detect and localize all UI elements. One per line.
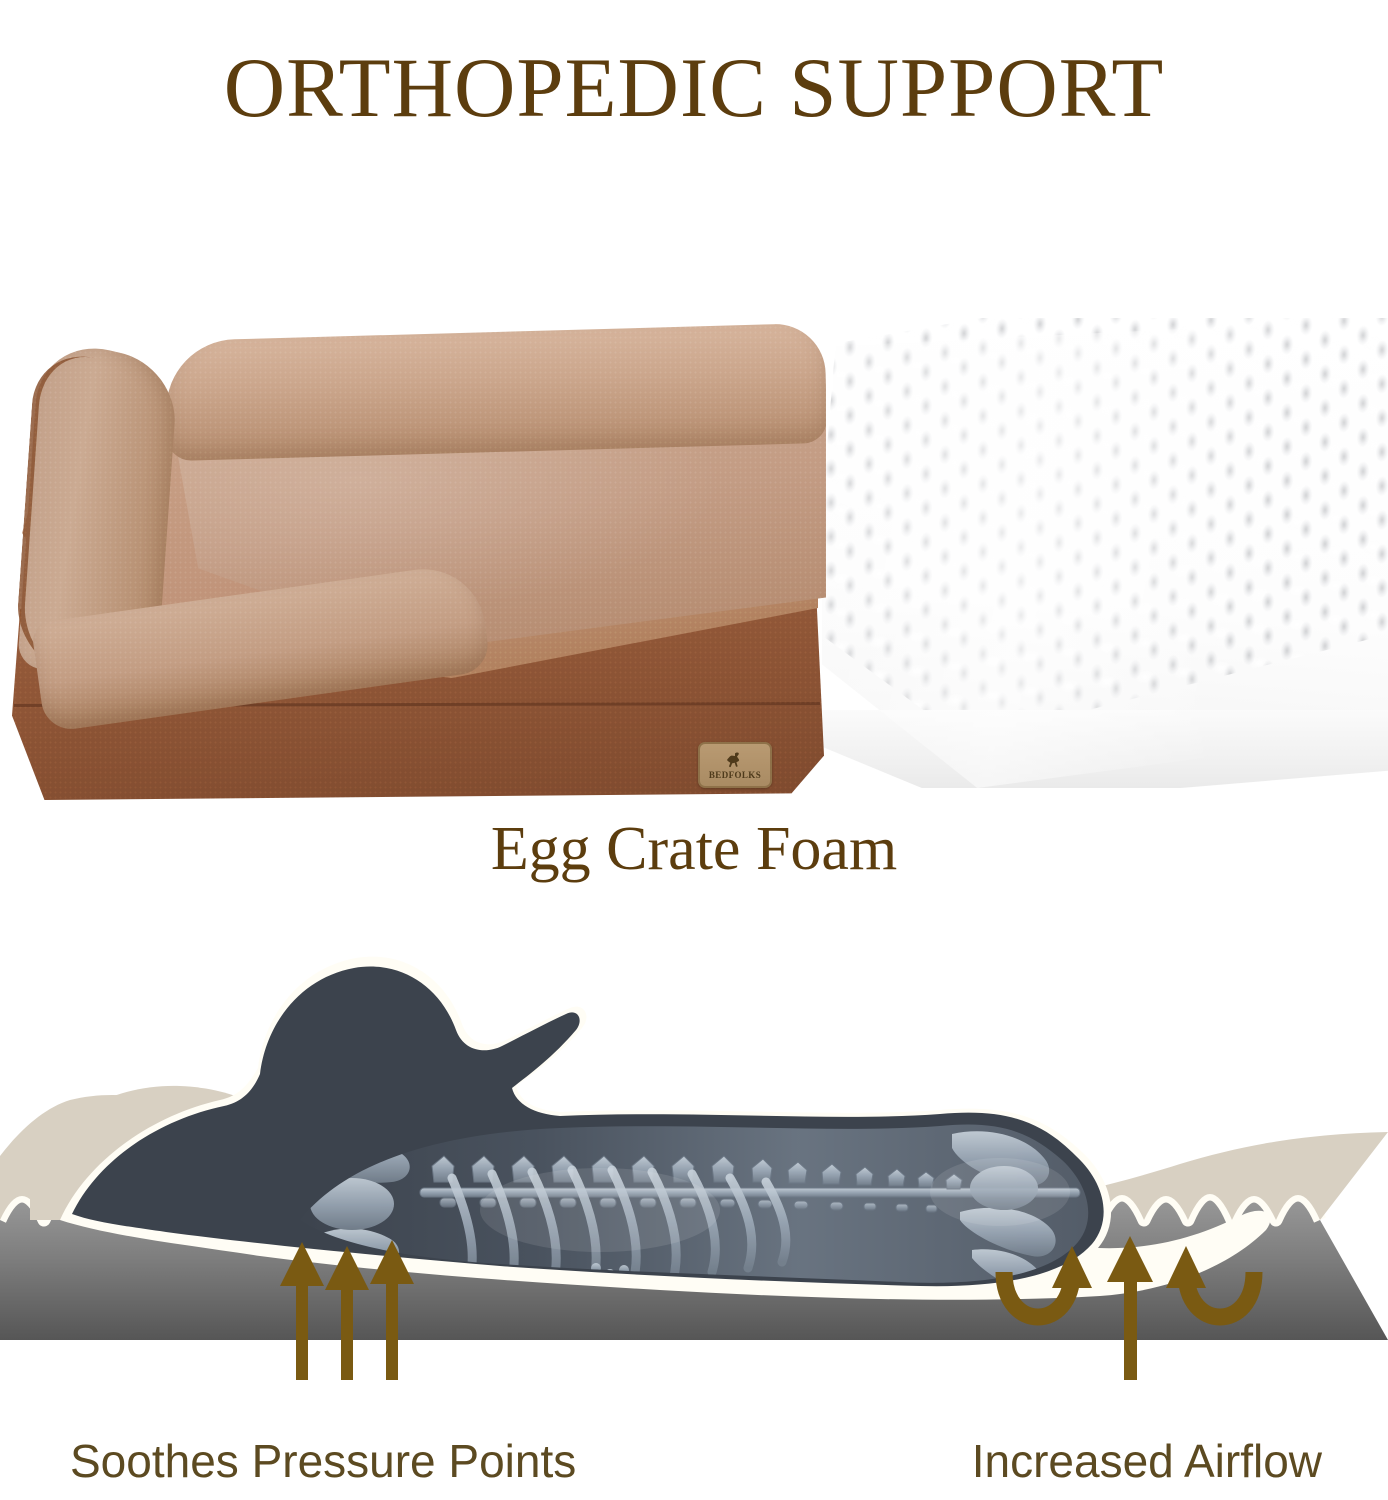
bed-bolster-back <box>164 323 826 461</box>
cross-section-diagram <box>0 920 1388 1380</box>
page-title: ORTHOPEDIC SUPPORT <box>0 46 1388 131</box>
infographic-stage: ORTHOPEDIC SUPPORT BEDFOLKS Eg <box>0 0 1388 1500</box>
increased-airflow-caption: Increased Airflow <box>972 1438 1322 1484</box>
brand-label-text: BEDFOLKS <box>709 771 761 780</box>
egg-crate-foam-caption: Egg Crate Foam <box>0 818 1388 880</box>
brand-label: BEDFOLKS <box>698 742 772 788</box>
pressure-arrows-group <box>280 1240 414 1380</box>
dog-figure-icon <box>724 751 746 769</box>
foam-slab-front-edge <box>822 710 1388 788</box>
soothes-pressure-points-caption: Soothes Pressure Points <box>70 1438 576 1484</box>
product-panel <box>0 300 1388 830</box>
dog-silhouette <box>60 957 1270 1300</box>
egg-crate-foam-slab <box>822 318 1388 788</box>
dog-bed-photo <box>8 310 826 800</box>
